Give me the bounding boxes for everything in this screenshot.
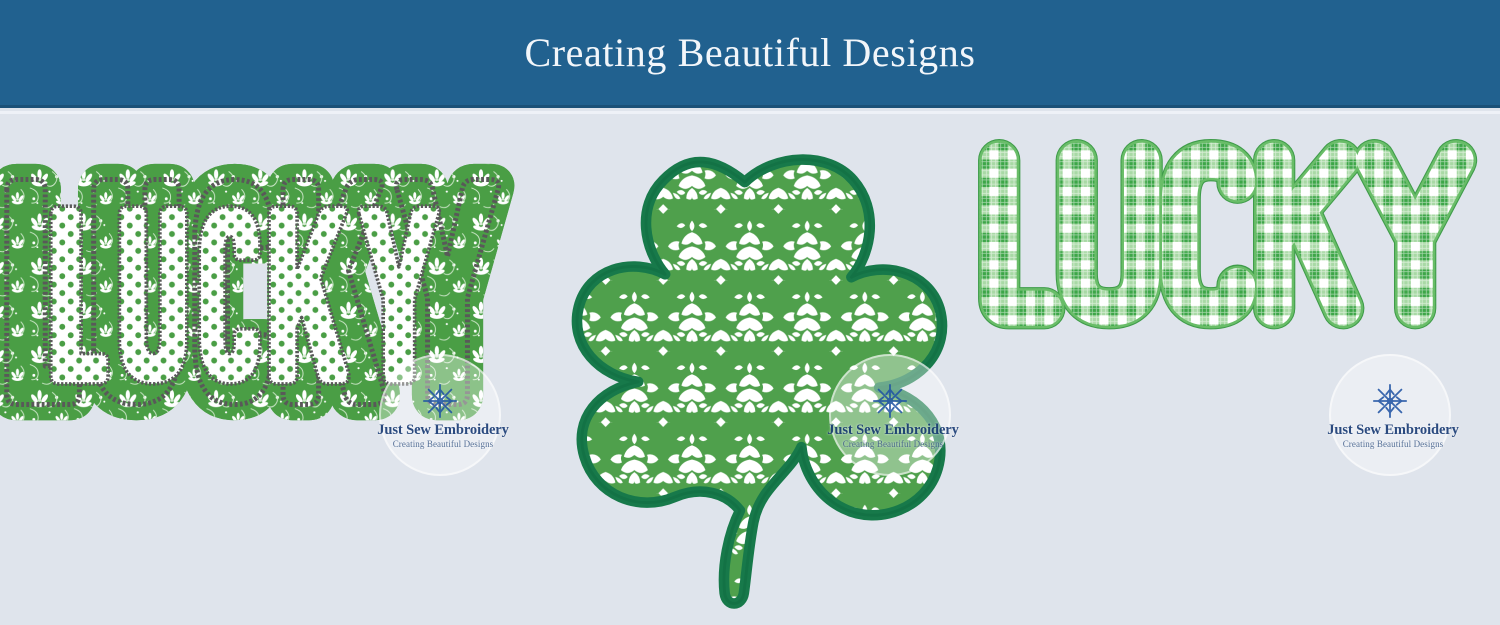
site-header-banner: Creating Beautiful Designs bbox=[0, 0, 1500, 108]
lucky-floral-artwork bbox=[0, 114, 530, 625]
design-lucky-gingham[interactable] bbox=[975, 114, 1500, 625]
gingham-fabric-fill bbox=[999, 160, 1456, 308]
page-root: Creating Beautiful Designs bbox=[0, 0, 1500, 625]
design-lucky-floral[interactable] bbox=[0, 114, 530, 625]
lucky-gingham-artwork bbox=[975, 114, 1500, 625]
design-gallery bbox=[0, 114, 1500, 625]
shamrock-artwork bbox=[540, 114, 960, 625]
page-title: Creating Beautiful Designs bbox=[524, 33, 975, 73]
design-shamrock[interactable] bbox=[540, 114, 960, 625]
